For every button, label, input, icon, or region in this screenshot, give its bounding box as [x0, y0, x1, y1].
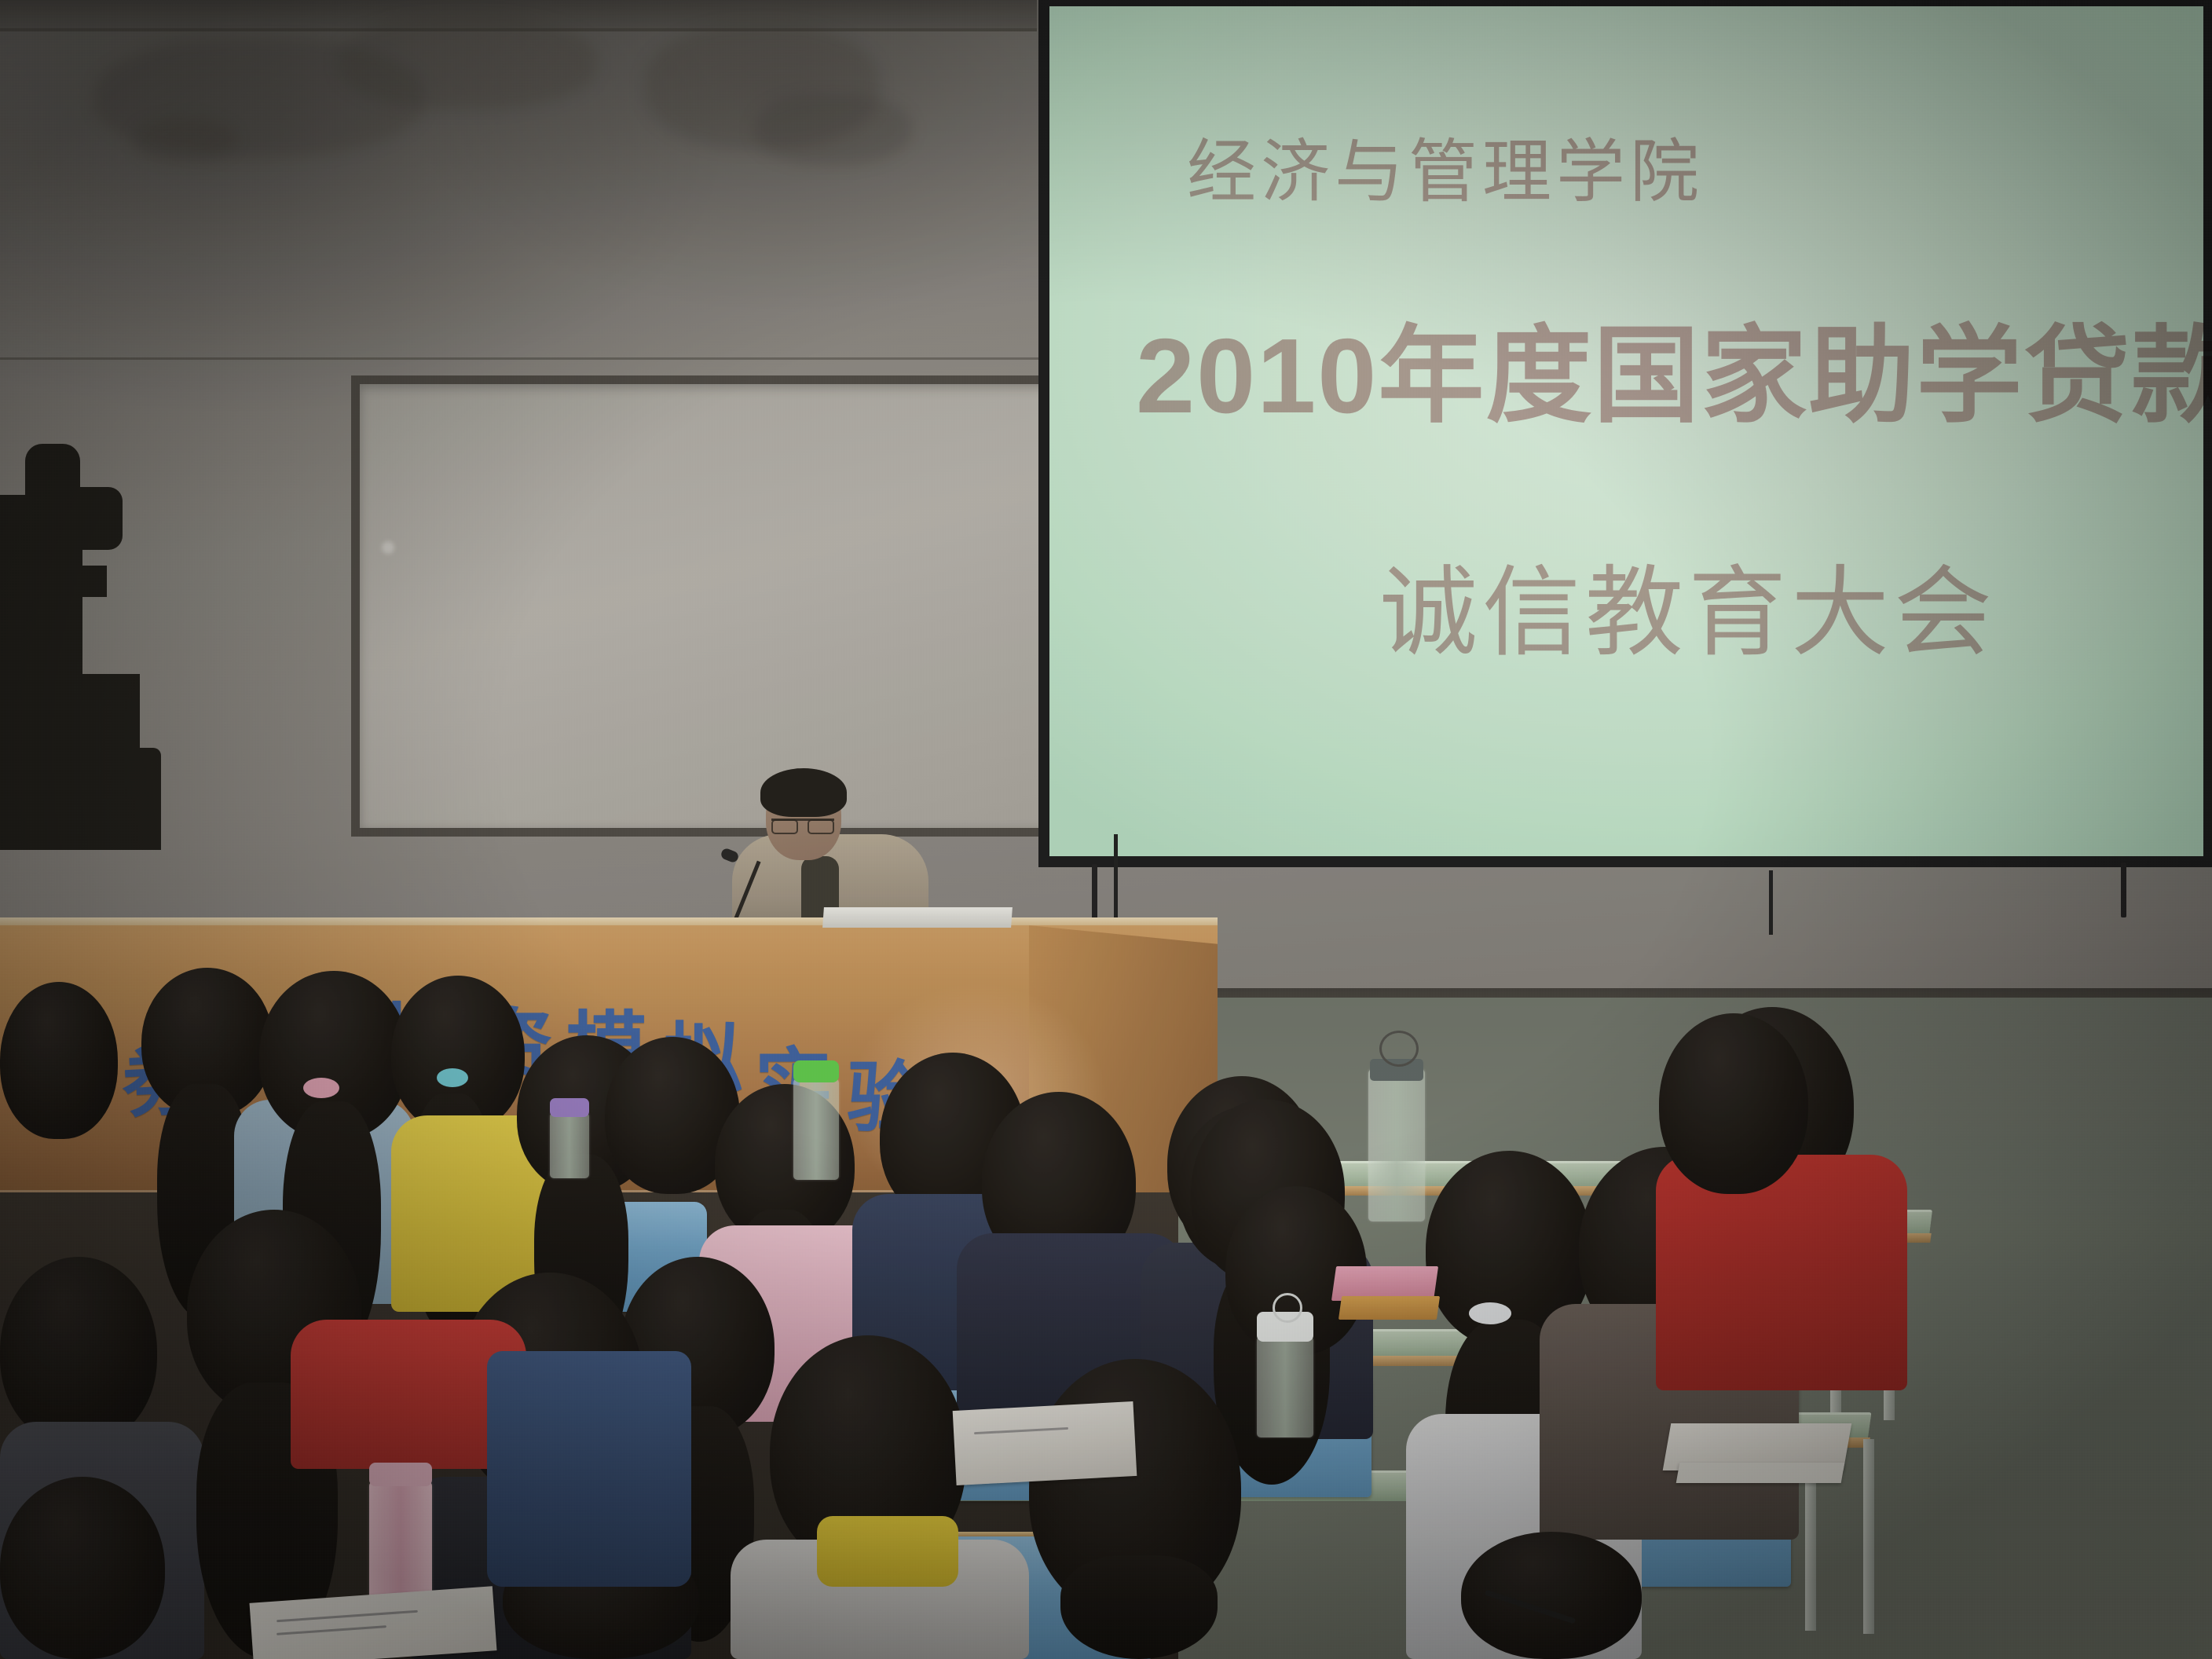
- student-ponytail: [1060, 1555, 1218, 1659]
- bottle-cap-pink[interactable]: [369, 1463, 432, 1486]
- bottle-loop: [1273, 1293, 1302, 1323]
- student-head: [0, 1257, 157, 1445]
- water-bottle[interactable]: [1257, 1335, 1313, 1437]
- wall-seam: [0, 357, 1045, 360]
- book[interactable]: [1339, 1296, 1440, 1320]
- slide-line-title: 2010年度国家助学贷款: [1136, 289, 2212, 443]
- wall-ornament-base: [0, 674, 140, 753]
- screen-hook-right: [2121, 862, 2126, 917]
- bottle-loop: [1379, 1031, 1419, 1067]
- bottle-cap-purple[interactable]: [550, 1098, 589, 1117]
- wall-stain: [134, 118, 236, 161]
- slide-line-subtitle: 诚信教育大会: [1379, 533, 1997, 675]
- student-head: [0, 1477, 165, 1659]
- water-bottle[interactable]: [1368, 1068, 1425, 1221]
- bottle-cap-green[interactable]: [793, 1060, 839, 1082]
- hair-tie: [437, 1068, 468, 1087]
- wall-ornament: [0, 495, 82, 676]
- screen-cable-right: [1769, 870, 1773, 935]
- glasses-icon: [771, 819, 834, 831]
- whiteboard: [351, 375, 1060, 837]
- student-collar-yellow: [817, 1516, 958, 1587]
- student-head: [0, 982, 118, 1139]
- wall-ornament-top: [25, 444, 80, 507]
- projection-screen: 经济与管理学院 2010年度国家助学贷款 诚信教育大会: [1038, 0, 2212, 867]
- student-torso-denim: [487, 1351, 691, 1587]
- wall-ornament-arm: [75, 487, 123, 550]
- screen-cable: [1114, 834, 1118, 928]
- water-bottle[interactable]: [550, 1111, 589, 1178]
- wall-ornament-arm: [72, 566, 107, 597]
- notebook-pages: [1676, 1463, 1845, 1483]
- podium-papers: [822, 907, 1013, 928]
- speaker-hair: [760, 768, 847, 817]
- wall-stain: [754, 94, 911, 165]
- classroom-photo: 经济与管理学院 2010年度国家助学贷款 诚信教育大会 man with gla…: [0, 0, 2212, 1659]
- student-torso-red: [1656, 1155, 1907, 1390]
- water-bottle[interactable]: [793, 1078, 839, 1180]
- screen-hook-left: [1092, 864, 1097, 919]
- wall-seam: [0, 28, 1037, 31]
- hair-tie: [303, 1078, 339, 1098]
- hair-tie: [1469, 1302, 1511, 1324]
- paper-sheet[interactable]: [953, 1401, 1137, 1485]
- slide-text-layer: 经济与管理学院 2010年度国家助学贷款 诚信教育大会: [1049, 6, 2203, 856]
- wall-ornament-plinth: [0, 748, 161, 850]
- water-bottle-pink[interactable]: [369, 1481, 432, 1599]
- student-head: [1659, 1013, 1808, 1194]
- slide-line-department: 经济与管理学院: [1187, 116, 1704, 216]
- desk-leg: [1863, 1439, 1874, 1634]
- whiteboard-smudge: [382, 541, 394, 554]
